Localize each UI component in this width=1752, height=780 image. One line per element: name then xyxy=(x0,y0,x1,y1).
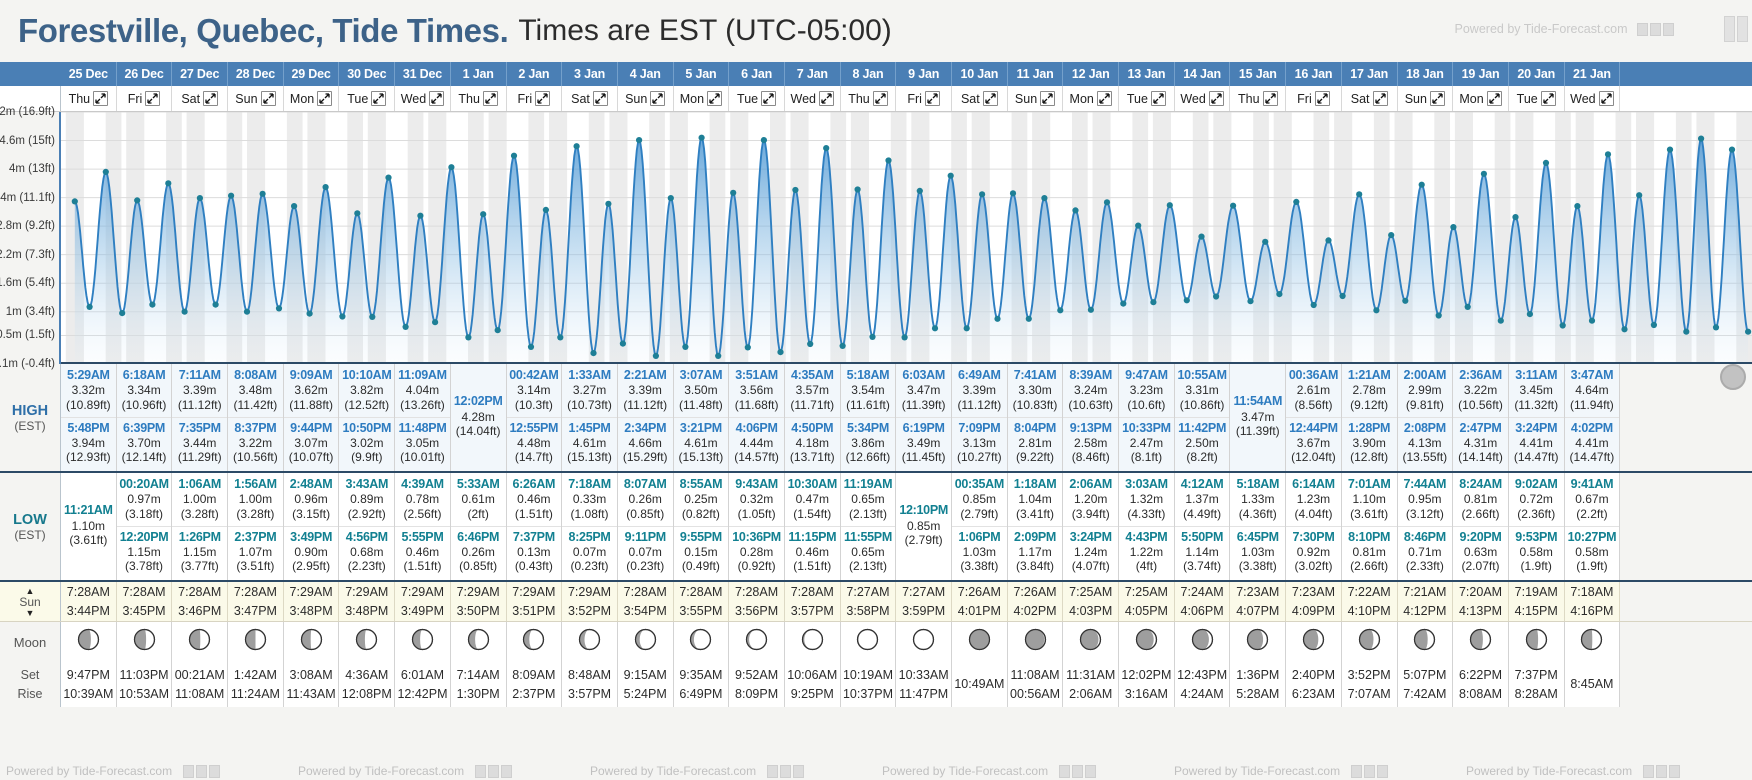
tide-height-m: 1.00m xyxy=(239,492,272,507)
moonrise-time: 8:08AM xyxy=(1459,685,1502,703)
tide-height-m: 2.61m xyxy=(1297,383,1330,398)
high-tide-cell: 9:09AM3.62m(11.88ft)9:44PM3.07m(10.07ft) xyxy=(284,364,340,471)
tide-event: 9:44PM3.07m(10.07ft) xyxy=(284,417,339,468)
moon-rise-label: Rise xyxy=(17,685,42,703)
date-header-cell[interactable]: 15 Jan xyxy=(1230,62,1286,86)
expand-icon[interactable] xyxy=(1487,91,1502,106)
moon-phase-icon xyxy=(968,628,991,656)
moon-times-cell: 10:49AM xyxy=(952,662,1008,707)
expand-icon[interactable] xyxy=(93,91,108,106)
tide-height-ft: (3.12ft) xyxy=(1406,507,1444,522)
date-header-cell[interactable]: 20 Jan xyxy=(1509,62,1565,86)
tide-time: 6:03AM xyxy=(902,368,945,383)
y-axis-tick: 5.2m (16.9ft) xyxy=(0,106,55,118)
tide-height-ft: (11.88ft) xyxy=(289,398,333,413)
tide-height-m: 0.58m xyxy=(1520,545,1553,560)
tide-height-ft: (15.13ft) xyxy=(567,450,612,465)
footer-item: Powered by Tide-Forecast.com xyxy=(876,764,1168,778)
moon-phase-icon xyxy=(467,628,490,656)
tide-time: 4:35AM xyxy=(791,368,834,383)
date-header-cell[interactable]: 1 Jan xyxy=(451,62,507,86)
tide-height-m: 1.00m xyxy=(183,492,216,507)
tide-event: 2:37PM1.07m(3.51ft) xyxy=(228,526,283,577)
tide-time: 10:36PM xyxy=(732,530,781,545)
day-header-cell: Fri xyxy=(507,86,563,111)
tide-time: 8:55AM xyxy=(680,477,723,492)
tide-event: 3:43AM0.89m(2.92ft) xyxy=(339,476,394,524)
tide-height-ft: (1.9ft) xyxy=(1576,559,1607,574)
tide-time: 4:06PM xyxy=(736,421,778,436)
moonset-time: 8:09AM xyxy=(512,666,555,684)
sunrise-time: 7:25AM xyxy=(1069,583,1112,602)
moon-phase-cell xyxy=(507,622,563,662)
tide-height-ft: (10.01ft) xyxy=(400,450,445,465)
tide-event: 8:08AM3.48m(11.42ft) xyxy=(228,367,283,415)
tide-time: 4:02PM xyxy=(1571,421,1613,436)
tide-event: 7:18AM0.33m(1.08ft) xyxy=(562,476,617,524)
tide-time: 6:26AM xyxy=(513,477,556,492)
footer-watermark: Powered by Tide-Forecast.comPowered by T… xyxy=(0,762,1752,780)
tide-event: 1:18AM1.04m(3.41ft) xyxy=(1008,476,1063,524)
expand-icon[interactable] xyxy=(593,91,608,106)
tide-time: 00:20AM xyxy=(119,477,168,492)
sunset-time: 4:07PM xyxy=(1236,602,1279,621)
expand-icon[interactable] xyxy=(203,91,218,106)
tide-event: 6:26AM0.46m(1.51ft) xyxy=(507,476,562,524)
tide-time: 7:41AM xyxy=(1014,368,1057,383)
tide-height-m: 0.46m xyxy=(517,492,550,507)
low-tide-cell: 00:35AM0.85m(2.79ft)1:06PM1.03m(3.38ft) xyxy=(952,473,1008,580)
sunrise-time: 7:27AM xyxy=(846,583,889,602)
tide-height-ft: (9.22ft) xyxy=(1016,450,1054,465)
tide-time: 11:15PM xyxy=(788,530,836,545)
expand-icon[interactable] xyxy=(1430,91,1445,106)
tide-event: 1:33AM3.27m(10.73ft) xyxy=(562,367,617,415)
tide-height-m: 3.14m xyxy=(517,383,550,398)
tide-height-m: 0.26m xyxy=(461,545,494,560)
tide-event: 9:41AM0.67m(2.2ft) xyxy=(1565,476,1620,524)
day-header-cell: Fri xyxy=(117,86,173,111)
date-header-cell[interactable]: 14 Jan xyxy=(1175,62,1231,86)
date-header-cell[interactable]: 6 Jan xyxy=(729,62,785,86)
day-name: Wed xyxy=(1570,92,1595,106)
moonset-time: 12:43PM xyxy=(1177,666,1227,684)
expand-icon[interactable] xyxy=(1209,91,1224,106)
sun-label: ▲ Sun ▼ xyxy=(0,582,61,621)
tide-height-ft: (14.57ft) xyxy=(734,450,779,465)
moon-times-cell: 10:33AM11:47PM xyxy=(896,662,952,707)
date-header-cell[interactable]: 8 Jan xyxy=(841,62,897,86)
tide-event: 5:34PM3.86m(12.66ft) xyxy=(841,417,896,468)
moon-phase-icon xyxy=(856,628,879,656)
expand-icon[interactable] xyxy=(1040,91,1055,106)
date-header-cell[interactable]: 18 Jan xyxy=(1398,62,1454,86)
high-tide-cell: 8:39AM3.24m(10.63ft)9:13PM2.58m(8.46ft) xyxy=(1063,364,1119,471)
tide-event: 7:35PM3.44m(11.29ft) xyxy=(172,417,227,468)
tide-time: 12:55PM xyxy=(510,421,559,436)
sunset-time: 3:57PM xyxy=(791,602,834,621)
tide-time: 6:46PM xyxy=(457,530,499,545)
tide-event: 9:09AM3.62m(11.88ft) xyxy=(284,367,339,415)
tide-time: 9:44PM xyxy=(290,421,332,436)
moon-phase-icon xyxy=(912,628,935,656)
sunset-time: 3:45PM xyxy=(122,602,165,621)
date-header-cell[interactable]: 10 Jan xyxy=(952,62,1008,86)
moon-times-cell: 12:43PM4:24AM xyxy=(1175,662,1231,707)
date-header-cell[interactable]: 26 Dec xyxy=(117,62,173,86)
low-tide-cells: 11:21AM1.10m(3.61ft)00:20AM0.97m(3.18ft)… xyxy=(61,473,1752,580)
moon-phase-cell xyxy=(1453,622,1509,662)
sun-cell: 7:27AM3:59PM xyxy=(896,582,952,621)
tide-event: 2:00AM2.99m(9.81ft) xyxy=(1398,367,1453,415)
tide-height-ft: (2.79ft) xyxy=(905,533,943,548)
tide-time: 5:50PM xyxy=(1181,530,1223,545)
expand-icon[interactable] xyxy=(873,91,888,106)
tide-event: 3:49PM0.90m(2.95ft) xyxy=(284,526,339,577)
moon-times-cell: 9:35AM6:49PM xyxy=(674,662,730,707)
expand-icon[interactable] xyxy=(317,91,332,106)
day-header-cell: Sun xyxy=(618,86,674,111)
moon-phase-cells xyxy=(61,622,1752,662)
moon-phase-cell xyxy=(618,622,674,662)
expand-icon[interactable] xyxy=(707,91,722,106)
low-tide-cell: 5:18AM1.33m(4.36ft)6:45PM1.03m(3.38ft) xyxy=(1230,473,1286,580)
expand-icon[interactable] xyxy=(483,91,498,106)
low-tide-cell: 12:10PM0.85m(2.79ft) xyxy=(896,473,952,580)
tide-height-ft: (14.47ft) xyxy=(1570,450,1615,465)
tide-height-ft: (12.93ft) xyxy=(66,450,111,465)
tide-time: 1:26PM xyxy=(179,530,221,545)
date-header-cell[interactable]: 4 Jan xyxy=(618,62,674,86)
sun-cell: 7:28AM3:54PM xyxy=(618,582,674,621)
moon-phase-icon xyxy=(1302,628,1325,656)
expand-icon[interactable] xyxy=(650,91,665,106)
badge-group xyxy=(183,765,220,778)
tide-time: 9:11PM xyxy=(625,530,666,545)
moon-phase-cell xyxy=(339,622,395,662)
tide-time: 2:34PM xyxy=(624,421,666,436)
tide-time: 11:21AM xyxy=(64,503,113,518)
tide-event: 12:02PM4.28m(14.04ft) xyxy=(451,393,506,441)
moon-phase-cell xyxy=(1565,622,1621,662)
sun-cell: 7:20AM4:13PM xyxy=(1453,582,1509,621)
moon-phase-icon xyxy=(300,628,323,656)
tide-event: 12:10PM0.85m(2.79ft) xyxy=(896,502,951,550)
date-header-cell[interactable]: 16 Jan xyxy=(1286,62,1342,86)
tide-event: 00:42AM3.14m(10.3ft) xyxy=(507,367,562,415)
date-header-cell[interactable]: 30 Dec xyxy=(339,62,395,86)
tide-time: 9:53PM xyxy=(1515,530,1557,545)
tide-height-ft: (11.71ft) xyxy=(790,398,834,413)
tide-event: 00:20AM0.97m(3.18ft) xyxy=(117,476,172,524)
sunrise-time: 7:23AM xyxy=(1236,583,1279,602)
sun-cell: 7:29AM3:48PM xyxy=(284,582,340,621)
footer-item: Powered by Tide-Forecast.com xyxy=(0,764,292,778)
moon-phase-icon xyxy=(634,628,657,656)
sunset-time: 3:56PM xyxy=(735,602,778,621)
tide-height-ft: (11.39ft) xyxy=(1236,424,1280,439)
tide-time: 2:48AM xyxy=(290,477,333,492)
tide-time: 9:47AM xyxy=(1125,368,1168,383)
date-header-cell[interactable]: 17 Jan xyxy=(1342,62,1398,86)
expand-icon[interactable] xyxy=(983,91,998,106)
expand-icon[interactable] xyxy=(1263,91,1278,106)
tide-height-ft: (2.07ft) xyxy=(1462,559,1500,574)
tide-time: 3:47AM xyxy=(1571,368,1614,383)
tide-event: 11:54AM3.47m(11.39ft) xyxy=(1230,393,1285,441)
day-header-cell: Sat xyxy=(172,86,228,111)
badge-icon xyxy=(1663,23,1674,36)
day-header-cell: Mon xyxy=(284,86,340,111)
high-tide-cell: 3:07AM3.50m(11.48ft)3:21PM4.61m(15.13ft) xyxy=(674,364,730,471)
tide-height-m: 2.47m xyxy=(1130,436,1163,451)
date-header-cell[interactable]: 19 Jan xyxy=(1453,62,1509,86)
date-header-cell[interactable]: 3 Jan xyxy=(562,62,618,86)
moonset-time: 11:31AM xyxy=(1066,666,1115,684)
tide-time: 2:08PM xyxy=(1404,421,1446,436)
low-tide-cell: 1:18AM1.04m(3.41ft)2:09PM1.17m(3.84ft) xyxy=(1008,473,1064,580)
scroll-right-icon[interactable] xyxy=(1737,16,1748,42)
tide-height-ft: (2ft) xyxy=(467,507,488,522)
tide-time: 9:13PM xyxy=(1070,421,1112,436)
day-header-cell: Wed xyxy=(395,86,451,111)
tide-height-m: 3.50m xyxy=(684,383,717,398)
tide-height-ft: (11.12ft) xyxy=(957,398,1001,413)
scroll-left-icon[interactable] xyxy=(1724,16,1735,42)
tide-time: 8:08AM xyxy=(234,368,277,383)
day-name: Wed xyxy=(1180,92,1205,106)
tide-height-ft: (9.12ft) xyxy=(1350,398,1388,413)
date-header-cell[interactable]: 25 Dec xyxy=(61,62,117,86)
tide-event: 1:21AM2.78m(9.12ft) xyxy=(1342,367,1397,415)
expand-icon[interactable] xyxy=(371,91,386,106)
moon-phase-cell xyxy=(1342,622,1398,662)
high-tide-cell: 1:21AM2.78m(9.12ft)1:28PM3.90m(12.8ft) xyxy=(1342,364,1398,471)
tide-time: 1:21AM xyxy=(1348,368,1391,383)
tide-height-m: 3.27m xyxy=(573,383,606,398)
tide-time: 8:39AM xyxy=(1069,368,1112,383)
day-name: Sat xyxy=(181,92,200,106)
tide-time: 6:14AM xyxy=(1292,477,1335,492)
date-header-cell[interactable]: 29 Dec xyxy=(284,62,340,86)
tide-height-m: 0.63m xyxy=(1464,545,1497,560)
tide-height-ft: (2.33ft) xyxy=(1406,559,1444,574)
date-header-cell[interactable]: 7 Jan xyxy=(785,62,841,86)
tide-height-ft: (9.9ft) xyxy=(351,450,382,465)
tide-height-ft: (2.92ft) xyxy=(348,507,386,522)
tide-height-m: 3.22m xyxy=(1464,383,1497,398)
expand-icon[interactable] xyxy=(261,91,276,106)
expand-icon[interactable] xyxy=(1151,91,1166,106)
expand-icon[interactable] xyxy=(1315,91,1330,106)
tide-event: 2:06AM1.20m(3.94ft) xyxy=(1063,476,1118,524)
tide-time: 5:29AM xyxy=(67,368,110,383)
tide-height-m: 3.07m xyxy=(294,436,327,451)
tide-height-m: 1.07m xyxy=(239,545,272,560)
expand-icon[interactable] xyxy=(761,91,776,106)
tide-time: 00:36AM xyxy=(1289,368,1338,383)
low-tide-cell: 6:14AM1.23m(4.04ft)7:30PM0.92m(3.02ft) xyxy=(1286,473,1342,580)
tide-height-ft: (3.41ft) xyxy=(1016,507,1054,522)
tide-height-m: 0.72m xyxy=(1520,492,1553,507)
tide-height-m: 0.71m xyxy=(1408,545,1441,560)
tide-event: 6:46PM0.26m(0.85ft) xyxy=(451,526,506,577)
high-tide-cell: 6:03AM3.47m(11.39ft)6:19PM3.49m(11.45ft) xyxy=(896,364,952,471)
badge-icon xyxy=(1351,765,1362,778)
tide-time: 4:43PM xyxy=(1125,530,1167,545)
tide-height-ft: (11.48ft) xyxy=(679,398,723,413)
low-tide-cell: 4:39AM0.78m(2.56ft)5:55PM0.46m(1.51ft) xyxy=(395,473,451,580)
tide-height-m: 0.07m xyxy=(573,545,606,560)
low-tide-cell: 6:26AM0.46m(1.51ft)7:37PM0.13m(0.43ft) xyxy=(507,473,563,580)
tide-event: 10:33PM2.47m(8.1ft) xyxy=(1119,417,1174,468)
moonrise-time: 11:24AM xyxy=(231,685,280,703)
tide-event: 2:09PM1.17m(3.84ft) xyxy=(1008,526,1063,577)
expand-icon[interactable] xyxy=(1599,91,1614,106)
moon-times-cell: 1:42AM11:24AM xyxy=(228,662,284,707)
moonset-time: 4:36AM xyxy=(345,666,388,684)
tide-time: 5:18AM xyxy=(1236,477,1279,492)
tide-height-ft: (10.56ft) xyxy=(1458,398,1503,413)
date-header-cell[interactable]: 31 Dec xyxy=(395,62,451,86)
tide-time: 7:18AM xyxy=(568,477,611,492)
moonset-time: 9:35AM xyxy=(679,666,722,684)
tide-time: 11:54AM xyxy=(1233,394,1282,409)
tide-time: 7:01AM xyxy=(1348,477,1391,492)
tide-height-m: 0.68m xyxy=(350,545,383,560)
tide-height-m: 1.17m xyxy=(1018,545,1051,560)
day-name: Sun xyxy=(1405,92,1427,106)
tide-time: 8:10PM xyxy=(1348,530,1390,545)
expand-icon[interactable] xyxy=(535,91,550,106)
tide-height-m: 3.48m xyxy=(239,383,272,398)
moon-phase-cell xyxy=(117,622,173,662)
tide-event: 6:39PM3.70m(12.14ft) xyxy=(117,417,172,468)
scroll-buttons[interactable] xyxy=(1724,16,1748,42)
badge-icon xyxy=(1364,765,1375,778)
tide-event: 10:36PM0.28m(0.92ft) xyxy=(729,526,784,577)
badge-icon xyxy=(475,765,486,778)
expand-icon[interactable] xyxy=(1373,91,1388,106)
moonset-time: 1:36PM xyxy=(1236,666,1279,684)
tide-time: 9:55PM xyxy=(680,530,722,545)
high-tide-cell: 8:08AM3.48m(11.42ft)8:37PM3.22m(10.56ft) xyxy=(228,364,284,471)
tide-event: 2:36AM3.22m(10.56ft) xyxy=(1453,367,1508,415)
moonset-time: 10:49AM xyxy=(954,675,1004,693)
sunrise-time: 7:28AM xyxy=(791,583,834,602)
tide-event: 5:18AM3.54m(11.61ft) xyxy=(841,367,896,415)
high-tide-cell: 10:55AM3.31m(10.86ft)11:42PM2.50m(8.2ft) xyxy=(1175,364,1231,471)
day-name: Sat xyxy=(571,92,590,106)
tide-height-m: 3.22m xyxy=(239,436,272,451)
tide-height-ft: (0.92ft) xyxy=(738,559,776,574)
sun-cell: 7:27AM3:58PM xyxy=(841,582,897,621)
tide-height-ft: (1.08ft) xyxy=(571,507,609,522)
tide-time: 8:46PM xyxy=(1404,530,1446,545)
tide-height-ft: (12.8ft) xyxy=(1350,450,1388,465)
tide-height-ft: (3.84ft) xyxy=(1016,559,1054,574)
tide-height-ft: (15.13ft) xyxy=(679,450,724,465)
footer-item: Powered by Tide-Forecast.com xyxy=(1460,764,1752,778)
date-header-cell[interactable]: 2 Jan xyxy=(507,62,563,86)
moon-phase-icon xyxy=(1079,628,1102,656)
tide-event: 3:51AM3.56m(11.68ft) xyxy=(729,367,784,415)
sun-cell: 7:29AM3:50PM xyxy=(451,582,507,621)
tide-event: 9:43AM0.32m(1.05ft) xyxy=(729,476,784,524)
moon-times-cell: 12:02PM3:16AM xyxy=(1119,662,1175,707)
moon-times-cell: 8:09AM2:37PM xyxy=(507,662,563,707)
tide-height-m: 3.23m xyxy=(1130,383,1163,398)
badge-icon xyxy=(209,765,220,778)
high-tide-cell: 2:00AM2.99m(9.81ft)2:08PM4.13m(13.55ft) xyxy=(1398,364,1454,471)
tide-height-m: 4.28m xyxy=(461,410,494,425)
sun-cell: 7:28AM3:55PM xyxy=(674,582,730,621)
date-header-cell[interactable]: 27 Dec xyxy=(172,62,228,86)
moon-phase-icon xyxy=(801,628,824,656)
sunrise-time: 7:25AM xyxy=(1125,583,1168,602)
tide-time: 12:02PM xyxy=(454,394,503,409)
date-header-cell[interactable]: 11 Jan xyxy=(1008,62,1064,86)
sunrise-time: 7:24AM xyxy=(1181,583,1224,602)
tide-height-ft: (0.23ft) xyxy=(626,559,664,574)
sun-cell: 7:22AM4:10PM xyxy=(1342,582,1398,621)
date-header-cell[interactable]: 28 Dec xyxy=(228,62,284,86)
tide-event: 1:56AM1.00m(3.28ft) xyxy=(228,476,283,524)
sunrise-time: 7:28AM xyxy=(735,583,778,602)
expand-icon[interactable] xyxy=(925,91,940,106)
date-header-cell[interactable]: 12 Jan xyxy=(1063,62,1119,86)
tide-height-m: 3.34m xyxy=(127,383,160,398)
sunset-time: 3:55PM xyxy=(679,602,722,621)
date-cells: 25 Dec26 Dec27 Dec28 Dec29 Dec30 Dec31 D… xyxy=(61,62,1752,86)
tide-time: 7:44AM xyxy=(1404,477,1447,492)
date-header-cell[interactable]: 9 Jan xyxy=(896,62,952,86)
day-name: Sat xyxy=(1351,92,1370,106)
tide-event: 11:19AM0.65m(2.13ft) xyxy=(841,476,896,524)
page-title: Forestville, Quebec, Tide Times. xyxy=(18,12,508,50)
moonset-time: 8:48AM xyxy=(568,666,611,684)
tide-event: 4:35AM3.57m(11.71ft) xyxy=(785,367,840,415)
moonset-time: 9:15AM xyxy=(624,666,667,684)
expand-icon[interactable] xyxy=(429,91,444,106)
tide-event: 6:03AM3.47m(11.39ft) xyxy=(896,367,951,415)
tide-event: 2:08PM4.13m(13.55ft) xyxy=(1398,417,1453,468)
tide-event: 1:06PM1.03m(3.38ft) xyxy=(952,526,1007,577)
tide-event: 00:36AM2.61m(8.56ft) xyxy=(1286,367,1341,415)
tide-height-ft: (3.78ft) xyxy=(125,559,163,574)
tide-height-ft: (4.36ft) xyxy=(1239,507,1277,522)
expand-icon[interactable] xyxy=(819,91,834,106)
scroll-handle[interactable] xyxy=(1720,364,1746,390)
tide-height-ft: (3.74ft) xyxy=(1183,559,1221,574)
date-header-cell[interactable]: 5 Jan xyxy=(674,62,730,86)
y-axis-tick: 3.4m (11.1ft) xyxy=(0,192,55,204)
tide-time: 7:37PM xyxy=(513,530,555,545)
tide-height-ft: (11.32ft) xyxy=(1514,398,1558,413)
sunset-time: 3:52PM xyxy=(568,602,611,621)
low-tide-cell: 10:30AM0.47m(1.54ft)11:15PM0.46m(1.51ft) xyxy=(785,473,841,580)
expand-icon[interactable] xyxy=(1541,91,1556,106)
low-tide-cell: 7:18AM0.33m(1.08ft)8:25PM0.07m(0.23ft) xyxy=(562,473,618,580)
date-header-cell[interactable]: 21 Jan xyxy=(1565,62,1621,86)
tide-height-ft: (4ft) xyxy=(1136,559,1157,574)
date-header-cell[interactable]: 13 Jan xyxy=(1119,62,1175,86)
high-tide-cell: 11:09AM4.04m(13.26ft)11:48PM3.05m(10.01f… xyxy=(395,364,451,471)
tide-time: 8:37PM xyxy=(234,421,276,436)
expand-icon[interactable] xyxy=(145,91,160,106)
sunset-time: 3:51PM xyxy=(512,602,555,621)
expand-icon[interactable] xyxy=(1097,91,1112,106)
